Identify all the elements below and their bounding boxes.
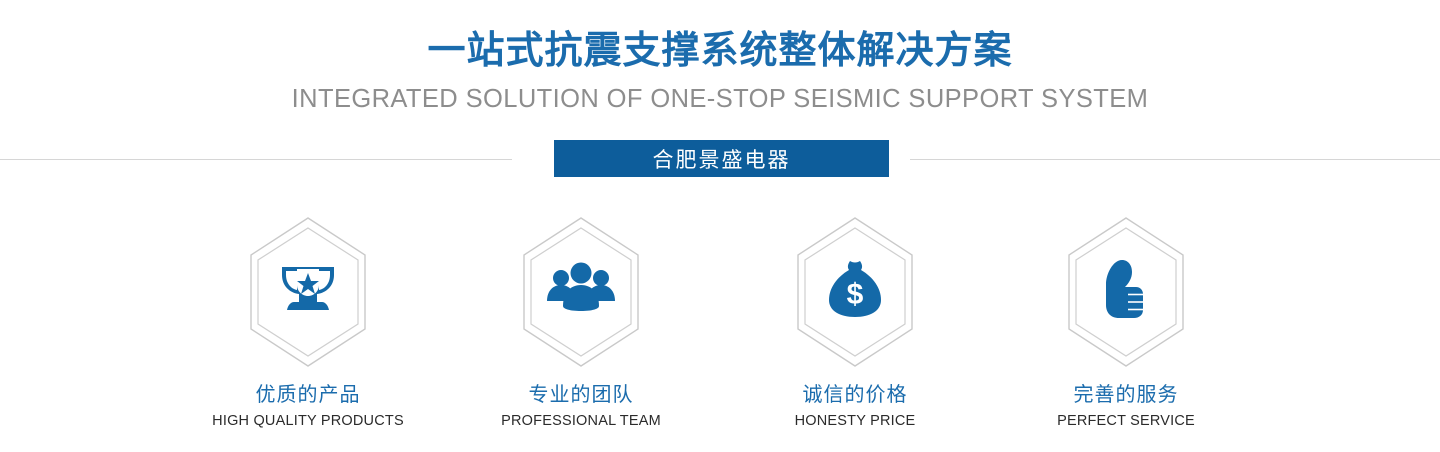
thumbs-up-icon bbox=[1026, 212, 1226, 372]
promo-banner-section: 一站式抗震支撑系统整体解决方案 INTEGRATED SOLUTION OF O… bbox=[0, 0, 1440, 452]
brand-tag: 合肥景盛电器 bbox=[554, 140, 889, 177]
feature-label-english: PROFESSIONAL TEAM bbox=[481, 408, 681, 431]
feature-item-perfect-service: 完善的服务 PERFECT SERVICE bbox=[1026, 212, 1226, 431]
brand-tag-label: 合肥景盛电器 bbox=[653, 144, 791, 174]
feature-label-chinese: 专业的团队 bbox=[481, 372, 681, 408]
divider-row: 合肥景盛电器 bbox=[0, 140, 1440, 178]
hex-frame-people bbox=[481, 212, 681, 372]
divider-line-right bbox=[910, 159, 1440, 160]
feature-item-honesty-price: $ 诚信的价格 HONESTY PRICE bbox=[755, 212, 955, 431]
feature-label-chinese: 优质的产品 bbox=[208, 372, 408, 408]
feature-label-chinese: 完善的服务 bbox=[1026, 372, 1226, 408]
feature-item-professional-team: 专业的团队 PROFESSIONAL TEAM bbox=[481, 212, 681, 431]
hex-frame-thumbsup bbox=[1026, 212, 1226, 372]
money-bag-icon: $ bbox=[755, 212, 955, 372]
feature-item-quality-products: 优质的产品 HIGH QUALITY PRODUCTS bbox=[208, 212, 408, 431]
feature-label-english: HONESTY PRICE bbox=[755, 408, 955, 431]
feature-label-chinese: 诚信的价格 bbox=[755, 372, 955, 408]
divider-line-left bbox=[0, 159, 512, 160]
feature-label-english: PERFECT SERVICE bbox=[1026, 408, 1226, 431]
feature-label-english: HIGH QUALITY PRODUCTS bbox=[208, 408, 408, 431]
headline-chinese: 一站式抗震支撑系统整体解决方案 bbox=[0, 0, 1440, 74]
hex-frame-trophy bbox=[208, 212, 408, 372]
trophy-icon bbox=[208, 212, 408, 372]
headline-block: 一站式抗震支撑系统整体解决方案 INTEGRATED SOLUTION OF O… bbox=[0, 0, 1440, 114]
people-group-icon bbox=[481, 212, 681, 372]
hex-frame-money: $ bbox=[755, 212, 955, 372]
headline-english: INTEGRATED SOLUTION OF ONE-STOP SEISMIC … bbox=[0, 74, 1440, 114]
svg-text:$: $ bbox=[847, 278, 864, 311]
